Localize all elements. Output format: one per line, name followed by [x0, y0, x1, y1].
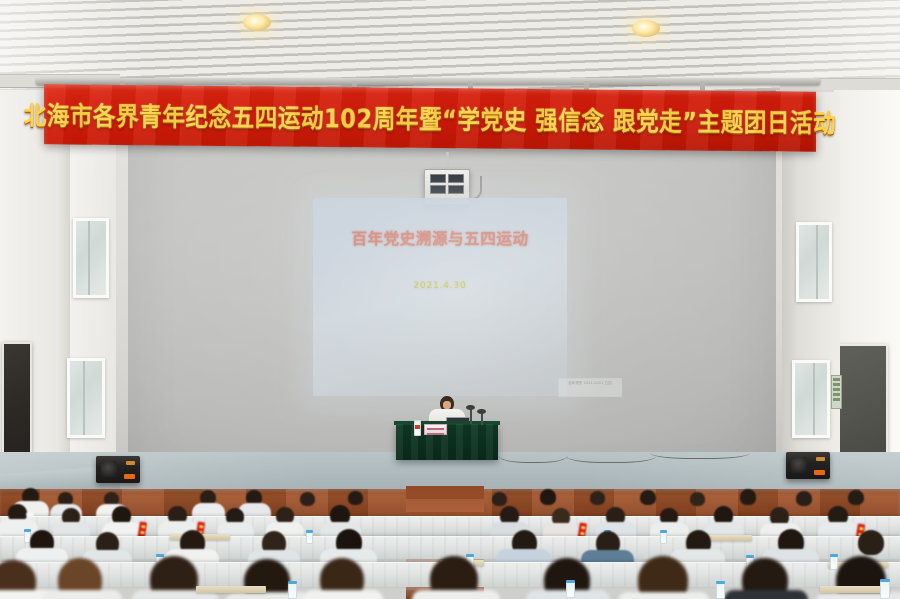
microphone-icon: [481, 412, 483, 425]
face-mask-icon: [26, 512, 34, 517]
audience-desk: [196, 586, 266, 593]
window-upper-right: [796, 222, 832, 302]
speaker-table: [396, 424, 498, 460]
audience-head: [160, 491, 175, 505]
event-banner-text: 北海市各界青年纪念五四运动102周年暨“学党史 强信念 跟党走”主题团日活动: [24, 96, 837, 140]
audience-body: [42, 590, 122, 599]
audience-body: [226, 592, 310, 599]
floor-cable: [650, 444, 750, 459]
audience-head: [740, 489, 756, 505]
water-bottle-icon: [288, 582, 297, 599]
speaker-brand-badge: [124, 474, 135, 479]
floor-speaker-left: [96, 456, 140, 483]
right-wall-panel: [836, 344, 888, 456]
wall-control-panel[interactable]: [831, 375, 842, 409]
speaker-cone: [101, 461, 117, 477]
audience-head: [492, 492, 507, 506]
speaker-logo: [126, 461, 135, 465]
audience-body: [303, 590, 383, 599]
water-bottle-icon: [880, 580, 890, 599]
audience-head: [858, 530, 884, 555]
downlight-icon: [243, 14, 271, 31]
audience-head: [300, 492, 315, 506]
window-lower-right: [792, 360, 830, 438]
window-mullion: [816, 225, 818, 299]
slide-watermark: 百年党史 1921-2021 五四: [558, 378, 622, 397]
table-top-edge: [394, 421, 500, 425]
slide-title: 百年党史溯源与五四运动: [313, 227, 567, 249]
microphone-icon: [470, 408, 472, 424]
projector-vent-grid: [430, 174, 464, 194]
audience-head: [640, 490, 656, 505]
water-bottle-icon: [306, 531, 313, 544]
window-upper-left: [73, 218, 109, 298]
window-mullion: [83, 361, 85, 435]
projector-cable: [466, 176, 482, 200]
speaker-cone: [791, 457, 807, 473]
window-mullion: [88, 221, 90, 295]
audience-body: [412, 590, 500, 599]
water-bottle-icon: [660, 531, 667, 544]
event-banner: 北海市各界青年纪念五四运动102周年暨“学党史 强信念 跟党走”主题团日活动: [44, 84, 816, 151]
floor-cable: [498, 444, 568, 463]
name-plate: [424, 424, 447, 435]
presenter-face: [443, 401, 451, 409]
audience-head: [590, 491, 605, 505]
audience-body: [618, 592, 710, 599]
water-bottle-icon: [566, 581, 575, 598]
audience-head: [540, 489, 556, 505]
window-mullion: [813, 363, 815, 435]
speaker-brand-badge: [814, 470, 825, 475]
water-bottle-icon: [414, 420, 421, 436]
water-bottle-icon: [830, 555, 838, 570]
downlight-icon: [632, 20, 660, 37]
water-bottle-icon: [716, 582, 725, 599]
audience-area: [0, 486, 900, 599]
speaker-logo: [816, 457, 825, 461]
projected-slide: 百年党史溯源与五四运动 2021.4.30: [313, 198, 567, 396]
floor-cable: [566, 446, 656, 463]
audience-body: [724, 590, 808, 599]
conference-hall-scene: 北海市各界青年纪念五四运动102周年暨“学党史 强信念 跟党走”主题团日活动 百…: [0, 0, 900, 599]
window-lower-left: [67, 358, 105, 438]
floor-speaker-right: [786, 452, 830, 479]
audience-head: [796, 491, 812, 506]
audience-head: [690, 492, 705, 506]
projector-mount-stem: [446, 152, 449, 170]
audience-head: [848, 490, 864, 505]
audience-head: [348, 491, 363, 505]
slide-date: 2021.4.30: [313, 281, 567, 291]
left-wall-panel: [2, 342, 32, 456]
